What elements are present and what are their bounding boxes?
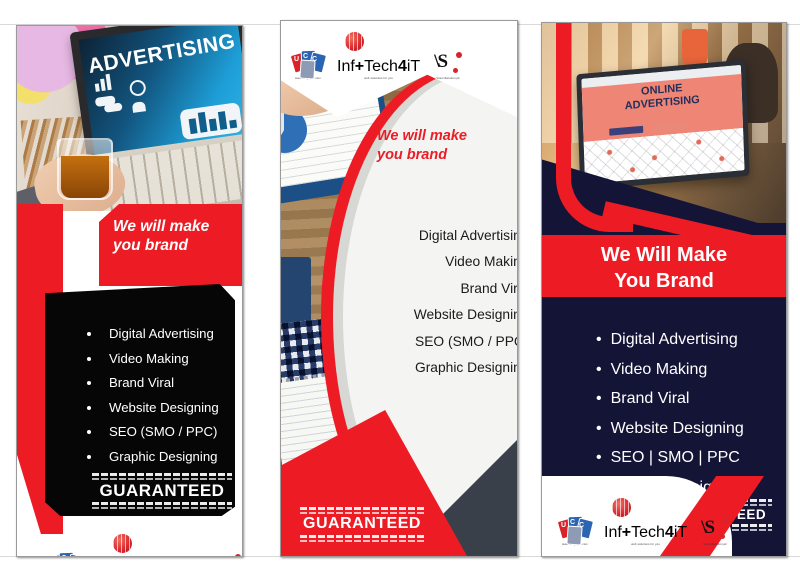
stamp-rule-top [300,507,424,510]
stamp-text: GUARANTEED [300,516,424,533]
list-item: Brand Viral [341,276,518,302]
list-item: Brand Viral [596,384,787,414]
banner-panel-1[interactable]: ADVERTISING [16,25,243,557]
panel3-headline-line1: We Will Make [542,242,786,268]
chart-icon-bar2 [100,79,106,91]
panel3-headline: We Will Make You Brand [542,242,786,294]
logo-infotech4it-caption: web solutions for you [604,543,687,546]
stamp-rule-bottom [92,502,232,505]
logo-ucc: U C C www.uccgujrat.com [291,50,325,80]
banner-panel-2[interactable]: U C C www.uccgujrat.com Inf+Tech4iT web … [280,20,518,557]
stamp-text: GUARANTEED [92,482,232,500]
speech-bubble-icon [104,102,123,112]
logo-vs: \S VisionSolution.pk [699,516,731,546]
list-item: Website Designing [341,302,518,328]
panel1-photo: ADVERTISING [17,26,242,211]
panel3-headline-line2: You Brand [542,268,786,294]
panel2-headline-line1: We will make [377,127,503,146]
logo-infotech4it: Inf+Tech4iT web solutions for you [604,498,687,546]
home-icon [132,101,146,113]
red-swoosh-curve [556,22,633,232]
panel1-guaranteed-stamp: GUARANTEED [87,473,237,509]
panel2-headline-line2: you brand [377,146,503,165]
panel2-guaranteed-stamp: GUARANTEED [297,507,427,542]
stamp-rule-top [92,473,232,476]
panel1-headline-line2: you brand [113,236,241,255]
list-item: Graphic Designing [341,355,518,381]
list-item: Graphic Designing [79,445,243,470]
panel3-logo-strip: U C C www.uccgujrat.com Inf+Tech4iT web … [558,498,686,546]
stamp-rule-top2 [92,478,232,480]
logo-infotech4it-caption: web solutions for you [337,77,420,80]
panel2-logo-strip: U C C www.uccgujrat.com Inf+Tech4iT web … [291,32,423,80]
panel1-logo-strip: U C C www.uccgujrat.com Inf+Tech4iT web … [51,534,241,557]
stamp-rule-bottom2 [92,507,232,509]
list-item: Brand Viral [79,371,243,396]
logo-infotech4it: Inf+Tech4iT web solutions for you [105,534,188,557]
banner-panel-3[interactable]: ONLINE ADVERTISING We Will Make You Bran… [541,22,787,557]
list-item: Video Making [79,347,243,372]
logo-vs-caption: VisionSolution.pk [432,77,464,80]
panel1-headline: We will make you brand [113,217,241,256]
list-item: Website Designing [79,396,243,421]
chart-icon [95,83,100,91]
list-item: Video Making [341,249,518,275]
list-item: Digital Advertising [596,325,787,355]
list-item: Digital Advertising [341,223,518,249]
logo-ucc: U C C www.uccgujrat.com [49,552,83,557]
list-item: Video Making [596,355,787,385]
list-item: Website Designing [596,414,787,444]
screenshot-canvas: ADVERTISING [0,0,800,581]
list-item: SEO (SMO / PPC) [79,420,243,445]
logo-ucc: U C C www.uccgujrat.com [558,516,592,546]
logo-vs-caption: VisionSolution.pk [699,543,731,546]
screen-headline: ADVERTISING [86,30,237,80]
logo-infotech4it-wordmark: Inf+Tech4iT [337,58,420,76]
stamp-rule-top2 [300,512,424,514]
panel1-headline-line1: We will make [113,217,241,236]
list-item: SEO | SMO | PPC [596,443,787,473]
stamp-rule-bottom2 [300,540,424,542]
logo-vs: \S VisionSolution.pk [211,552,243,557]
panel2-headline: We will make you brand [377,127,503,165]
panel1-services-list: Digital Advertising Video Making Brand V… [39,322,243,469]
stamp-rule-bottom [300,535,424,538]
tea-cup-image [57,138,113,200]
megaphone-icon [129,79,147,97]
logo-infotech4it: Inf+Tech4iT web solutions for you [337,32,420,80]
list-item: SEO (SMO / PPC) [341,329,518,355]
panel2-services-list: Digital Advertising Video Making Brand V… [301,223,518,382]
list-item: Digital Advertising [79,322,243,347]
logo-vs: \S VisionSolution.pk [432,50,464,80]
logo-infotech4it-wordmark: Inf+Tech4iT [604,524,687,542]
chart-icon-bar3 [106,74,112,90]
